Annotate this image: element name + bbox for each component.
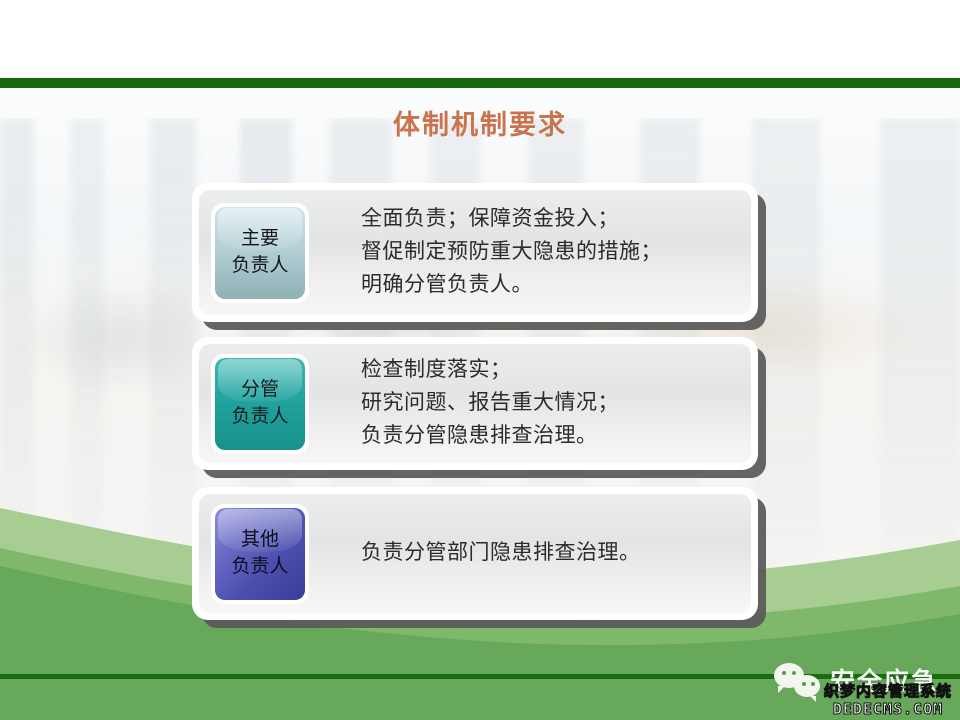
responsibility-card-other[interactable]: 其他 负责人 负责分管部门隐患排查治理。 bbox=[192, 487, 758, 620]
role-badge-line1: 分管 bbox=[241, 377, 279, 404]
card-body-text: 负责分管部门隐患排查治理。 bbox=[361, 537, 659, 570]
wechat-bubble-front bbox=[794, 675, 820, 697]
role-badge-line1: 其他 bbox=[241, 527, 279, 554]
role-badge-face: 主要 负责人 bbox=[215, 207, 305, 299]
wechat-eye-4 bbox=[811, 682, 815, 686]
role-badge-deputy[interactable]: 分管 负责人 bbox=[211, 354, 309, 454]
role-badge-other[interactable]: 其他 负责人 bbox=[211, 504, 309, 604]
card-inner-panel: 分管 负责人 检查制度落实； 研究问题、报告重大情况； 负责分管隐患排查治理。 bbox=[199, 344, 751, 463]
responsibility-card-list: 主要 负责人 全面负责；保障资金投入； 督促制定预防重大隐患的措施； 明确分管负… bbox=[0, 0, 960, 720]
card-inner-panel: 其他 负责人 负责分管部门隐患排查治理。 bbox=[199, 494, 751, 613]
wechat-eye-2 bbox=[792, 671, 796, 675]
role-badge-line2: 负责人 bbox=[231, 404, 288, 431]
slide-canvas: 体制机制要求 主要 负责人 全面负责；保障资金投入； 督促制定预防重大隐患的措施… bbox=[0, 0, 960, 720]
wechat-eye-3 bbox=[802, 682, 806, 686]
role-badge-line2: 负责人 bbox=[231, 554, 288, 581]
card-body-text: 检查制度落实； 研究问题、报告重大情况； 负责分管隐患排查治理。 bbox=[361, 354, 637, 452]
wechat-eye-1 bbox=[782, 671, 786, 675]
responsibility-card-deputy[interactable]: 分管 负责人 检查制度落实； 研究问题、报告重大情况； 负责分管隐患排查治理。 bbox=[192, 337, 758, 470]
card-body-text: 全面负责；保障资金投入； 督促制定预防重大隐患的措施； 明确分管负责人。 bbox=[361, 203, 680, 301]
role-badge-face: 其他 负责人 bbox=[215, 508, 305, 600]
role-badge-line1: 主要 bbox=[241, 226, 279, 253]
role-badge-line2: 负责人 bbox=[231, 253, 288, 280]
card-inner-panel: 主要 负责人 全面负责；保障资金投入； 督促制定预防重大隐患的措施； 明确分管负… bbox=[199, 190, 751, 315]
watermark-chinese: 织梦内容管理系统 bbox=[824, 684, 952, 701]
watermark-domain: DEDECMS.COM bbox=[824, 701, 952, 718]
role-badge-face: 分管 负责人 bbox=[215, 358, 305, 450]
wechat-icon bbox=[774, 663, 820, 697]
role-badge-primary[interactable]: 主要 负责人 bbox=[211, 203, 309, 303]
responsibility-card-primary[interactable]: 主要 负责人 全面负责；保障资金投入； 督促制定预防重大隐患的措施； 明确分管负… bbox=[192, 183, 758, 322]
dedecms-watermark: 织梦内容管理系统 DEDECMS.COM bbox=[824, 684, 952, 718]
